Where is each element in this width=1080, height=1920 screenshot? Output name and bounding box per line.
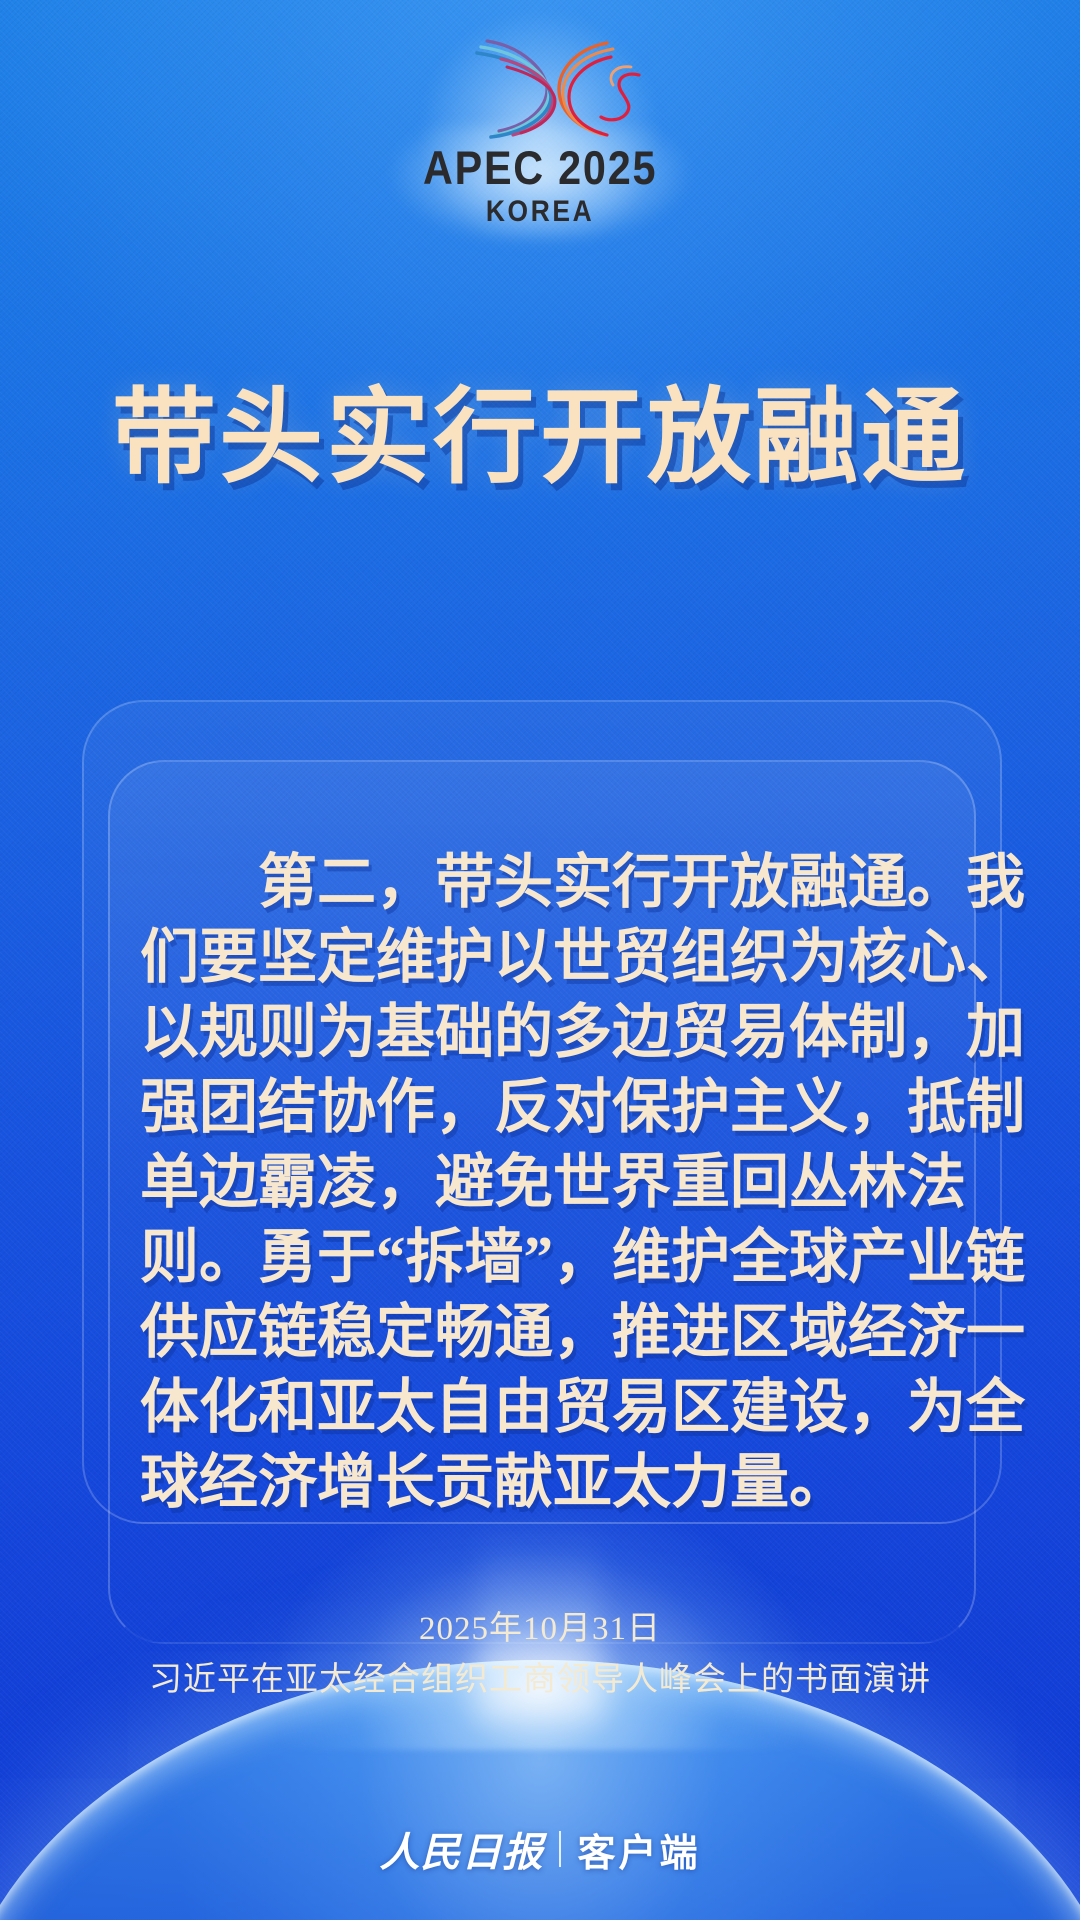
quote-body: 第二，带头实行开放融通。我 们要坚定维护以世贸组织为核心、 以规则为基础的多边贸…: [140, 845, 940, 1520]
quote-line: 供应链稳定畅通，推进区域经济一: [140, 1295, 940, 1370]
app-name-label: 客户端: [577, 1822, 700, 1877]
apec-wordmark: APEC 2025 KOREA: [407, 144, 673, 227]
page-title: 带头实行开放融通: [0, 352, 1080, 503]
quote-line: 球经济增长贡献亚太力量。: [140, 1445, 940, 1520]
apec-logo-mark-icon: [425, 30, 655, 140]
quote-line: 体化和亚太自由贸易区建设，为全: [140, 1370, 940, 1445]
speech-source: 习近平在亚太经合组织工商领导人峰会上的书面演讲: [0, 1654, 1080, 1706]
attribution: 2025年10月31日 习近平在亚太经合组织工商领导人峰会上的书面演讲: [0, 1604, 1080, 1706]
quote-line: 们要坚定维护以世贸组织为核心、: [140, 920, 940, 995]
apec-speech-poster: APEC 2025 KOREA 带头实行开放融通 第二，带头实行开放融通。我 们…: [0, 0, 1080, 1920]
apec-arcs-icon: [425, 31, 655, 139]
speech-date: 2025年10月31日: [0, 1604, 1080, 1654]
quote-line: 第二，带头实行开放融通。我: [140, 845, 940, 920]
quote-line: 则。勇于“拆墙”，维护全球产业链: [140, 1220, 940, 1295]
quote-line: 强团结协作，反对保护主义，抵制: [140, 1070, 940, 1145]
apec-logo-line2: KOREA: [423, 197, 657, 227]
peoples-daily-logo: 人民日报: [379, 1820, 543, 1878]
apec-logo-line1: APEC 2025: [423, 144, 657, 191]
footer-brand: 人民日报 客户端: [0, 1820, 1080, 1878]
apec-logo-block: APEC 2025 KOREA: [0, 30, 1080, 227]
brand-divider: [559, 1831, 561, 1867]
quote-line: 单边霸凌，避免世界重回丛林法: [140, 1145, 940, 1220]
quote-line: 以规则为基础的多边贸易体制，加: [140, 995, 940, 1070]
